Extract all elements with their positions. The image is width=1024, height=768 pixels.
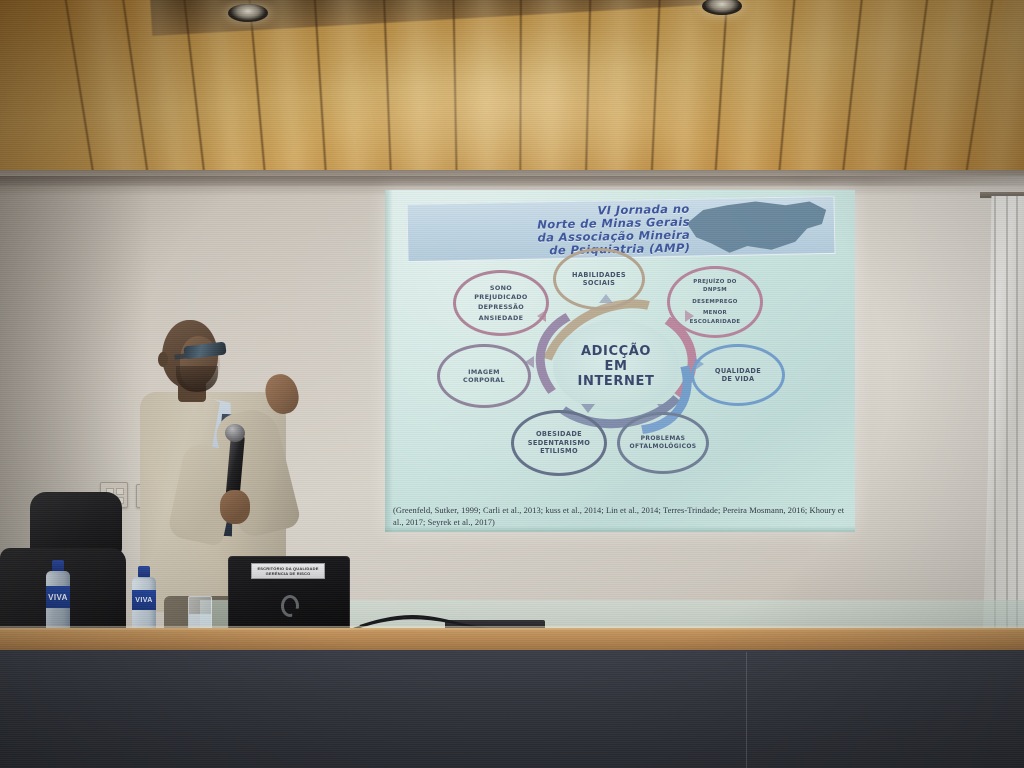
- laptop-sticker: ESCRITÓRIO DA QUALIDADE GERÊNCIA DE RISC…: [251, 563, 325, 579]
- bubble-problemas-oftalmologicos: PROBLEMAS OFTALMOLÓGICOS: [617, 412, 709, 474]
- photo-scene: VI Jornada no Norte de Minas Gerais da A…: [0, 0, 1024, 768]
- water-bottle[interactable]: VIVA: [44, 560, 72, 634]
- arrow-down-left-icon: [581, 404, 595, 413]
- bubble-line: DNPSM: [690, 286, 741, 295]
- table-front-panel: [0, 650, 1024, 768]
- bubble-line: MENOR: [690, 309, 741, 318]
- bubble-line: PREJUDICADO: [474, 293, 527, 302]
- bubble-line: SOCIAIS: [572, 279, 626, 288]
- ceiling-shadow-left: [0, 0, 330, 186]
- concept-diagram: ADICÇÃO EM INTERNET HABILIDADES SOCIAIS: [385, 252, 855, 482]
- speaker-ear: [158, 352, 168, 367]
- ceiling-downlight-icon: [228, 4, 268, 22]
- bottle-label: VIVA: [46, 586, 70, 608]
- bubble-line: CORPORAL: [463, 376, 505, 385]
- bubble-qualidade-de-vida: QUALIDADE DE VIDA: [691, 344, 785, 406]
- bubble-line: HABILIDADES: [572, 271, 626, 280]
- slide-citation: (Greenfeld, Sutker, 1999; Carli et al., …: [393, 505, 849, 528]
- table-panel-seam: [746, 652, 747, 768]
- hub-line-2: EM: [578, 359, 655, 374]
- laptop-lid[interactable]: ESCRITÓRIO DA QUALIDADE GERÊNCIA DE RISC…: [228, 556, 350, 632]
- bubble-line: DE VIDA: [715, 375, 761, 384]
- bubble-obesidade-sedentarismo-etilismo: OBESIDADE SEDENTARISMO ETILISMO: [511, 410, 607, 476]
- bubble-line: PROBLEMAS: [630, 435, 697, 444]
- ceiling-light-glow: [300, 20, 720, 186]
- bubble-line: QUALIDADE: [715, 367, 761, 376]
- bubble-line: PREJUÍZO DO: [690, 278, 741, 287]
- laptop-sticker-line-2: GERÊNCIA DE RISCO: [266, 571, 311, 576]
- hub-line-1: ADICÇÃO: [578, 344, 655, 359]
- projected-slide: VI Jornada no Norte de Minas Gerais da A…: [385, 190, 855, 532]
- ceiling-shadow-right: [724, 0, 1024, 186]
- bubble-line: DESEMPREGO: [690, 298, 741, 307]
- bubble-line: ANSIEDADE: [474, 314, 527, 323]
- bubble-line: ETILISMO: [528, 447, 590, 456]
- bubble-prejuizo-dnpsm: PREJUÍZO DO DNPSM DESEMPREGO MENOR ESCOL…: [667, 266, 763, 338]
- diagram-hub: ADICÇÃO EM INTERNET: [553, 320, 679, 412]
- table-top-highlight: [0, 626, 1024, 631]
- bubble-line: DEPRESSÃO: [474, 303, 527, 312]
- bubble-imagem-corporal: IMAGEM CORPORAL: [437, 344, 531, 408]
- table-top: [0, 628, 1024, 652]
- bottle-label: VIVA: [132, 590, 156, 610]
- bubble-line: OFTALMOLÓGICOS: [630, 443, 697, 452]
- bubble-line: SEDENTARISMO: [528, 439, 590, 448]
- bubble-habilidades-sociais: HABILIDADES SOCIAIS: [553, 248, 645, 310]
- hub-line-3: INTERNET: [578, 374, 655, 389]
- compaq-logo-icon: [281, 595, 299, 617]
- bubble-sono-depressao-ansiedade: SONO PREJUDICADO DEPRESSÃO ANSIEDADE: [453, 270, 549, 336]
- speaker-hand-holding-microphone: [220, 490, 250, 524]
- bubble-line: IMAGEM: [463, 368, 505, 377]
- bubble-line: OBESIDADE: [528, 430, 590, 439]
- bubble-line: ESCOLARIDADE: [690, 318, 741, 327]
- bubble-line: SONO: [474, 284, 527, 293]
- wooden-slat-ceiling: [0, 0, 1024, 186]
